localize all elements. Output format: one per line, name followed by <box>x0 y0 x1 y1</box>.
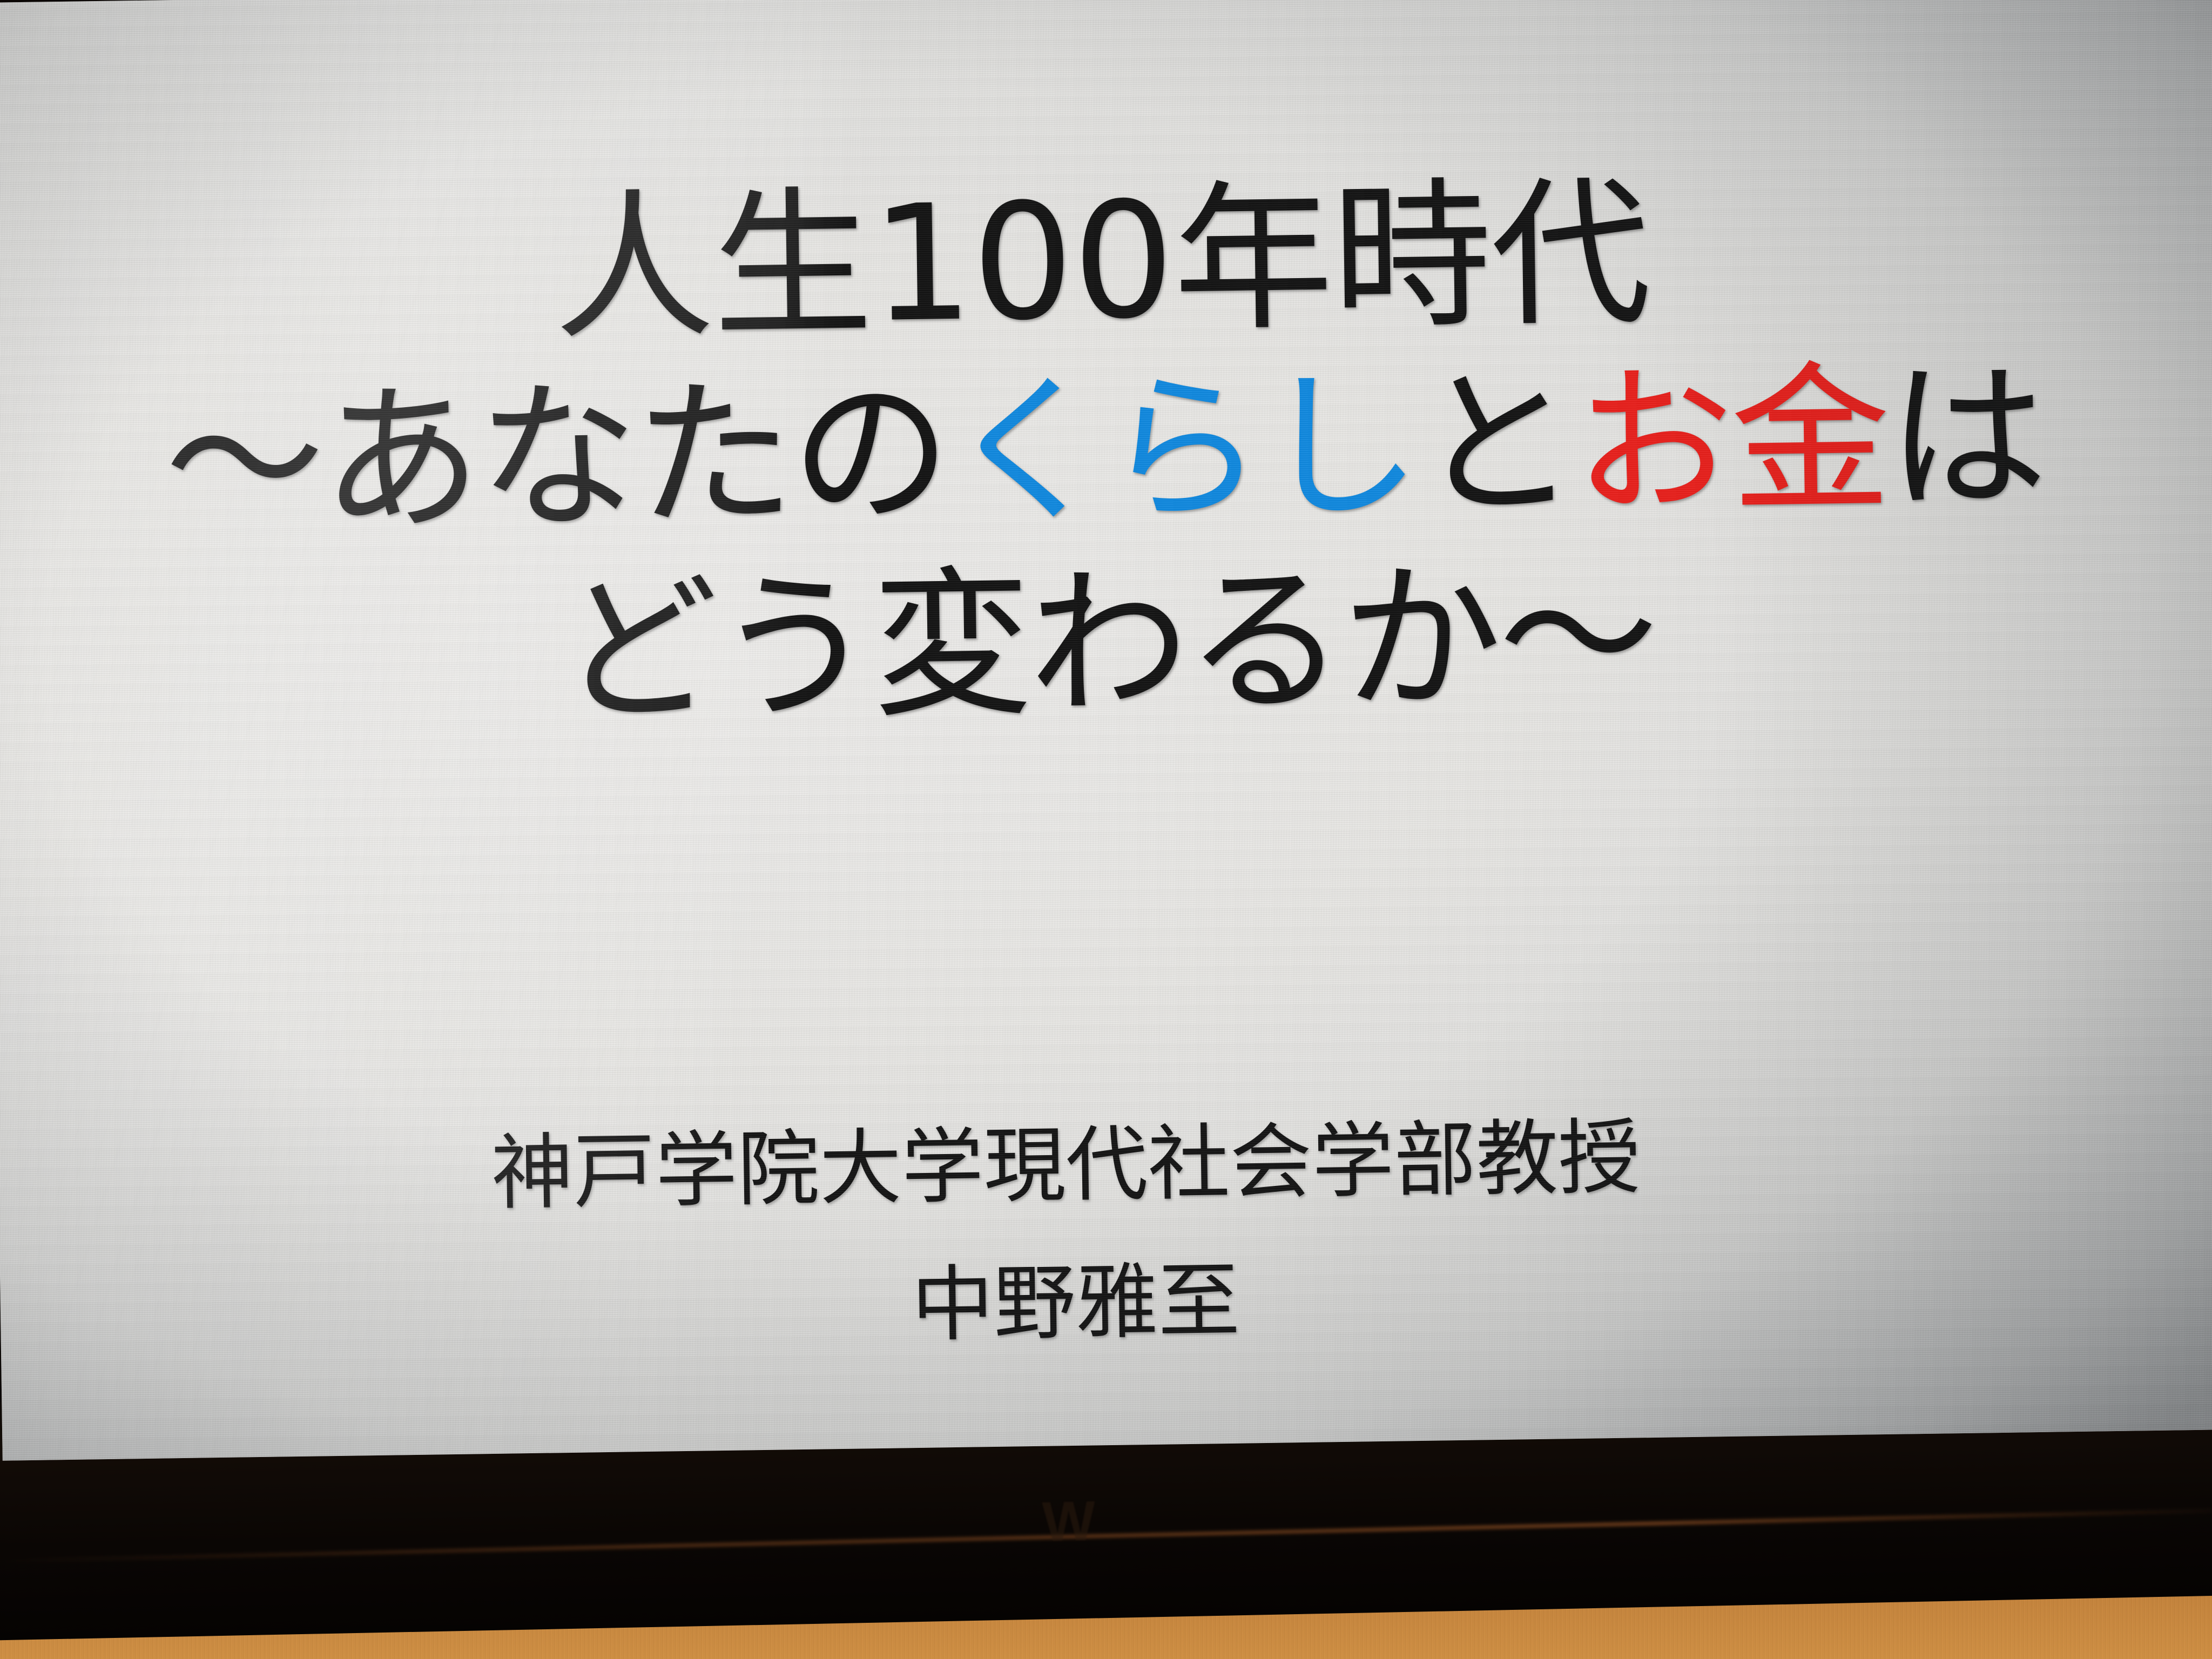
slide-title-line-3: どう変わるか〜 <box>0 548 2212 739</box>
title-line-2-prefix: 〜あなたの <box>164 359 949 556</box>
presenter-name: 中野雅至 <box>0 1246 2212 1359</box>
presentation-screen: 人生100年時代 〜あなたのくらしとお金は どう変わるか〜 神戸学院大学現代社会… <box>0 0 2212 1461</box>
slide-content: 人生100年時代 〜あなたのくらしとお金は どう変わるか〜 神戸学院大学現代社会… <box>0 0 2212 1461</box>
slide-title-line-2: 〜あなたのくらしとお金は <box>0 355 2212 546</box>
title-highlight-okane: お金 <box>1573 346 1889 537</box>
photo-of-presentation-screen: W 人生100年時代 〜あなたのくらしとお金は どう変わるか〜 神戸学院大学現代… <box>0 0 2212 1659</box>
title-line-2-middle: と <box>1416 350 1575 539</box>
title-line-2-suffix: は <box>1886 344 2045 532</box>
presenter-affiliation: 神戸学院大学現代社会学部教授 <box>0 1108 2212 1222</box>
brand-logo-icon: W <box>1042 1494 1226 1546</box>
slide-title-line-1: 人生100年時代 <box>0 166 2212 357</box>
title-highlight-kurashi: くらし <box>947 353 1419 545</box>
